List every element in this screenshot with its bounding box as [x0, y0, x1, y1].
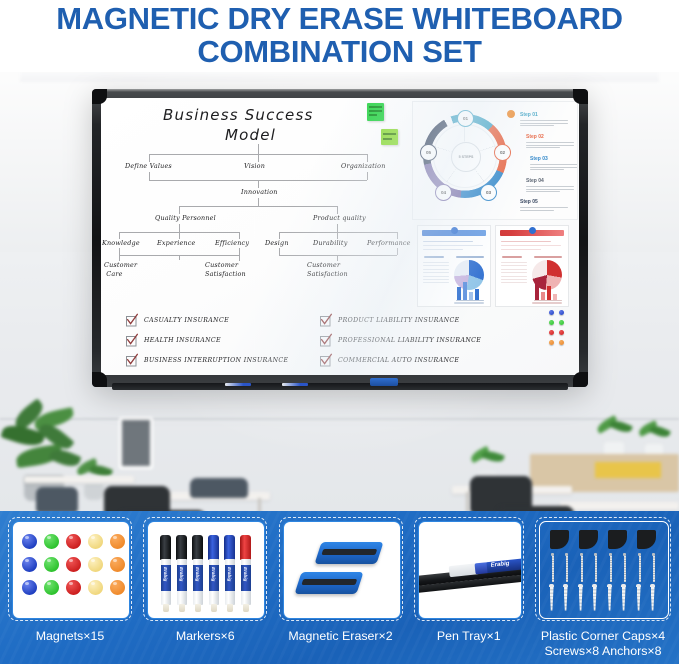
magnet-blue: [22, 557, 37, 572]
report-poster-red: [495, 225, 569, 307]
marker-brand: Erabig: [227, 567, 232, 581]
checkbox-checked-icon: [125, 353, 139, 367]
corner-cap-piece: [550, 530, 569, 549]
eraser-felt-strip: [301, 579, 357, 585]
node-experience: Experience: [157, 239, 196, 247]
magnet-orange: [110, 534, 125, 549]
checklist-label-commercial-auto: COMMERCIAL AUTO INSURANCE: [338, 357, 459, 364]
infographic-node-05: 05: [420, 144, 437, 161]
report-poster-blue: [417, 225, 491, 307]
infographic-accent-dot: [507, 110, 515, 118]
infographic-node-01: 01: [457, 110, 474, 127]
panel-markers-inner: Erabig Erabig Erabig Erabig: [147, 521, 265, 619]
board-magnet-orange-2: [559, 340, 564, 345]
checkbox-checked-icon: [319, 313, 333, 327]
board-magnet-red-1: [549, 330, 554, 335]
panel-eraser-inner: [283, 521, 401, 619]
magnet-green: [44, 580, 59, 595]
accessory-labels: Magnets×15 Markers×6 Magnetic Eraser×2 P…: [0, 629, 679, 664]
checklist-item-casualty: CASUALTY INSURANCE: [125, 313, 229, 327]
checklist-item-health: HEALTH INSURANCE: [125, 333, 221, 347]
accessory-panels: Erabig Erabig Erabig Erabig: [0, 517, 679, 625]
checklist-item-professional-liability: PROFESSIONAL LIABILITY INSURANCE: [319, 333, 481, 347]
node-vision: Vision: [244, 162, 265, 170]
board-magnet-blue-2: [559, 310, 564, 315]
board-magnet-blue-1: [549, 310, 554, 315]
node-innovation: Innovation: [241, 188, 278, 196]
infographic-node-02: 02: [494, 144, 511, 161]
label-markers: Markers×6: [143, 629, 267, 644]
checkbox-checked-icon: [319, 333, 333, 347]
infographic-step-04: Step 04: [526, 178, 574, 194]
corner-cap-piece: [637, 530, 656, 549]
board-magnet-green-2: [559, 320, 564, 325]
magnet-green: [44, 534, 59, 549]
magnet-yellow: [88, 557, 103, 572]
magnet-orange: [110, 580, 125, 595]
poster-red-bar-chart: [534, 280, 562, 300]
label-magnetic-eraser: Magnetic Eraser×2: [279, 629, 403, 644]
infographic-step-05: Step 05: [520, 199, 568, 212]
tray-eraser: [370, 378, 398, 386]
magnet-red: [66, 534, 81, 549]
board-magnet-orange-1: [549, 340, 554, 345]
checklist-item-business-interruption: BUSINESS INTERRUPTION INSURANCE: [125, 353, 288, 367]
marker-brand: Erabig: [163, 567, 168, 581]
board-magnet-red-2: [559, 330, 564, 335]
panel-hardware[interactable]: [535, 517, 671, 621]
marker-brand: Erabig: [211, 567, 216, 581]
panel-pen-tray[interactable]: Erabig: [414, 517, 524, 621]
panel-pen-tray-inner: Erabig: [418, 521, 522, 619]
accessories-strip: Erabig Erabig Erabig Erabig: [0, 511, 679, 664]
magnet-red: [66, 580, 81, 595]
board-magnet-green-1: [549, 320, 554, 325]
panel-hardware-inner: [539, 521, 669, 619]
corner-cap-piece: [608, 530, 627, 549]
infographic-node-03: 03: [480, 184, 497, 201]
magnet-yellow: [88, 580, 103, 595]
checklist-label-casualty: CASUALTY INSURANCE: [144, 317, 229, 324]
checklist-label-health: HEALTH INSURANCE: [144, 337, 221, 344]
label-magnets: Magnets×15: [8, 629, 132, 644]
checkbox-checked-icon: [125, 333, 139, 347]
product-listing-image: MAGNETIC DRY ERASE WHITEBOARD COMBINATIO…: [0, 0, 679, 664]
tray-marker-1: [225, 383, 251, 386]
infographic-step-01: Step 01: [520, 112, 568, 128]
infographic-center-label: 5 STEPS: [451, 142, 481, 172]
sticky-note-current-option: [381, 129, 398, 145]
step-01-title: Step 01: [520, 112, 568, 118]
marker-brand: Erabig: [243, 567, 248, 581]
page-title-line2: COMBINATION SET: [197, 36, 481, 69]
label-pen-tray: Pen Tray×1: [414, 629, 524, 644]
node-performance: Performance: [367, 239, 411, 247]
step-02-title: Step 02: [526, 134, 574, 140]
step-05-title: Step 05: [520, 199, 568, 205]
page-title-line1: MAGNETIC DRY ERASE WHITEBOARD: [56, 3, 623, 36]
marker-brand: Erabig: [195, 567, 200, 581]
step-03-title: Step 03: [530, 156, 578, 162]
sticky-note-action-plan: [367, 103, 384, 121]
room-scene: Business Success Model Define Values Vis…: [0, 62, 679, 517]
infographic-node-04: 04: [435, 184, 452, 201]
infographic-step-03: Step 03: [530, 156, 578, 172]
panel-magnets[interactable]: [8, 517, 132, 621]
eraser-felt-strip: [321, 549, 377, 555]
magnet-blue: [22, 580, 37, 595]
whiteboard: Business Success Model Define Values Vis…: [92, 89, 588, 387]
corner-cap-bottom-right: [573, 372, 588, 387]
magnet-yellow: [88, 534, 103, 549]
checklist-label-product-liability: PRODUCT LIABILITY INSURANCE: [338, 317, 460, 324]
label-hardware-line2: Screws×8 Anchors×8: [535, 644, 671, 659]
node-define-values: Define Values: [125, 162, 172, 170]
node-customer-care: Customer Care: [104, 261, 137, 278]
magnetic-eraser-1: [314, 542, 383, 564]
corner-cap-piece: [579, 530, 598, 549]
tray-marker-2: [282, 383, 308, 386]
infographic-ring: 5 STEPS 01 02 03 04 05: [423, 114, 507, 198]
checklist-item-commercial-auto: COMMERCIAL AUTO INSURANCE: [319, 353, 459, 367]
node-customer-satisfaction-right: Customer Satisfaction: [307, 261, 348, 278]
node-durability: Durability: [313, 239, 348, 247]
magnet-orange: [110, 557, 125, 572]
node-customer-satisfaction-left: Customer Satisfaction: [205, 261, 246, 278]
poster-red-badge: [529, 227, 536, 234]
step-04-title: Step 04: [526, 178, 574, 184]
poster-blue-bar-chart: [456, 280, 484, 300]
whiteboard-surface: Business Success Model Define Values Vis…: [101, 98, 579, 375]
whiteboard-pen-tray: [112, 383, 568, 390]
node-product-quality: Product quality: [313, 214, 366, 222]
checkbox-checked-icon: [319, 353, 333, 367]
magnetic-eraser-2: [294, 572, 363, 594]
checkbox-checked-icon: [125, 313, 139, 327]
marker-brand: Erabig: [179, 567, 184, 581]
pen-brand: Erabig: [486, 558, 522, 569]
corner-cap-top-right: [573, 89, 588, 104]
five-steps-infographic: 5 STEPS 01 02 03 04 05 Step 01 Ste: [412, 101, 578, 220]
corner-cap-bottom-left: [92, 372, 107, 387]
panel-magnets-inner: [12, 521, 130, 619]
node-organization: Organization: [341, 162, 386, 170]
poster-blue-badge: [451, 227, 458, 234]
magnet-red: [66, 557, 81, 572]
diagram-title-line2: Model: [225, 126, 276, 144]
checklist-label-business-interruption: BUSINESS INTERRUPTION INSURANCE: [144, 357, 288, 364]
product-title-band: MAGNETIC DRY ERASE WHITEBOARD COMBINATIO…: [0, 0, 679, 72]
infographic-step-02: Step 02: [526, 134, 574, 150]
label-hardware: Plastic Corner Caps×4 Screws×8 Anchors×8: [535, 629, 671, 658]
panel-markers[interactable]: Erabig Erabig Erabig Erabig: [143, 517, 267, 621]
checklist-label-professional-liability: PROFESSIONAL LIABILITY INSURANCE: [338, 337, 481, 344]
diagram-title-line1: Business Success: [163, 106, 314, 124]
node-knowledge: Knowledge: [102, 239, 140, 247]
magnet-green: [44, 557, 59, 572]
node-design: Design: [265, 239, 289, 247]
node-quality-personnel: Quality Personnel: [155, 214, 216, 222]
panel-magnetic-eraser[interactable]: [279, 517, 403, 621]
checklist-item-product-liability: PRODUCT LIABILITY INSURANCE: [319, 313, 460, 327]
magnet-blue: [22, 534, 37, 549]
node-efficiency: Efficiency: [215, 239, 249, 247]
label-hardware-line1: Plastic Corner Caps×4: [535, 629, 671, 644]
